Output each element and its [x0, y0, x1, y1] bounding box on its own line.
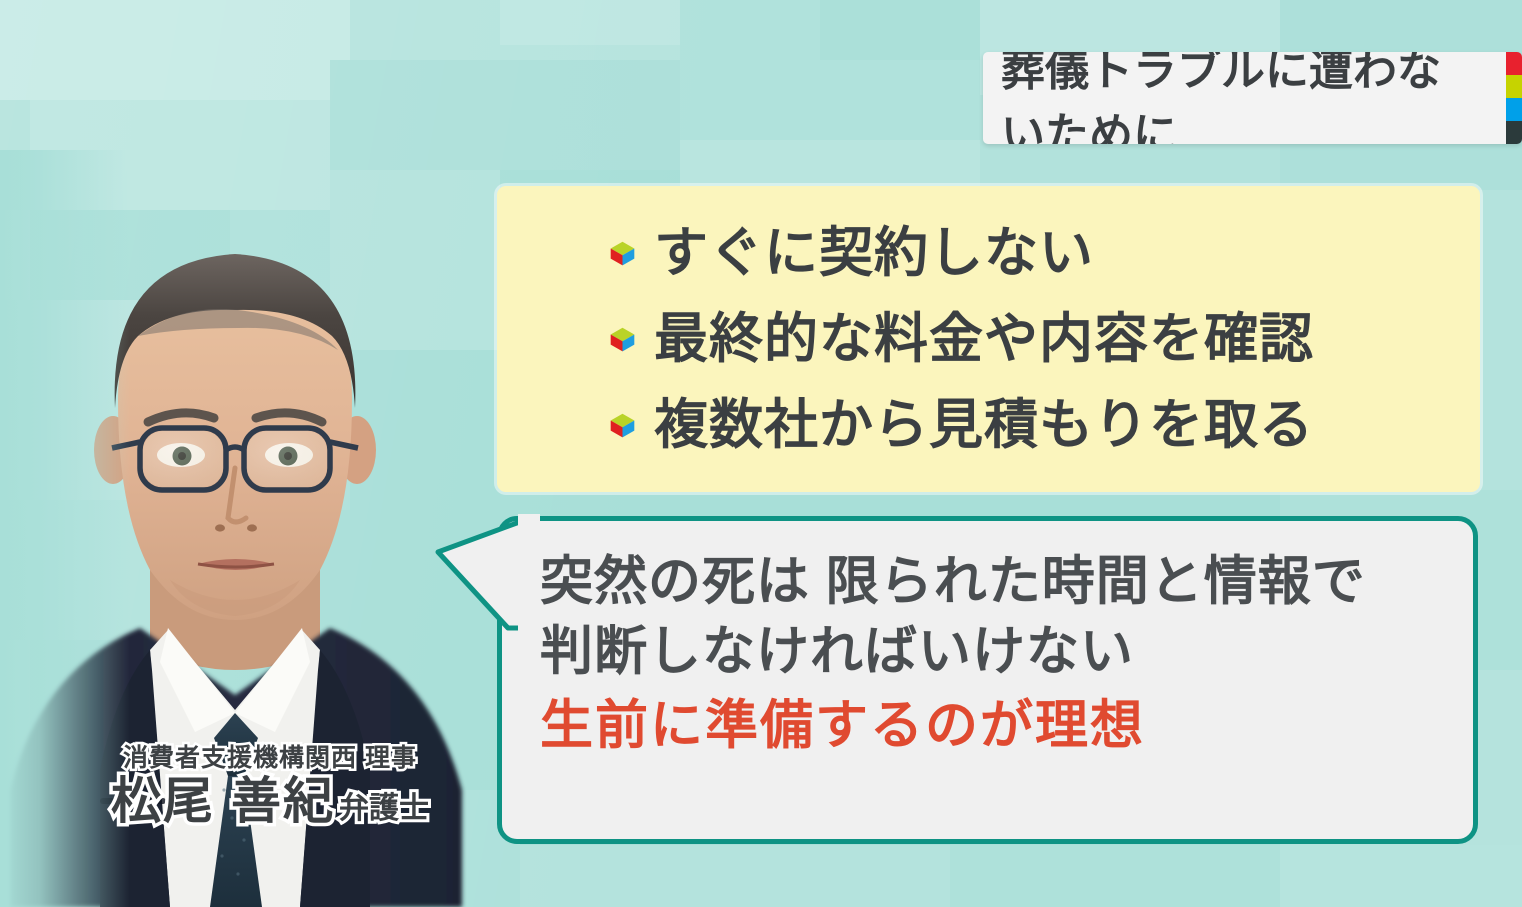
background-tile: [820, 0, 980, 60]
cube-icon: [609, 326, 636, 353]
stripe-segment-blue: [1506, 98, 1522, 121]
stripe-segment-yellow: [1506, 75, 1522, 98]
tip-text: すぐに契約しない: [654, 226, 1094, 280]
tip-item: 最終的な料金や内容を確認: [609, 296, 1480, 382]
tip-text: 最終的な料金や内容を確認: [654, 312, 1314, 366]
speaker-name-row: 松尾 善紀 弁護士: [60, 775, 480, 828]
quote-line: 判断しなければいけない: [540, 617, 1473, 687]
brand-color-stripe: [1506, 52, 1522, 144]
broadcast-graphic-stage: 消費者支援機構関西 理事 松尾 善紀 弁護士 葬儀トラブルに遭わないために す: [0, 0, 1522, 907]
speaker-role: 弁護士: [339, 793, 429, 828]
topic-banner-title: 葬儀トラブルに遭わないために: [983, 52, 1506, 144]
quote-line: 突然の死は 限られた時間と情報で: [540, 547, 1473, 617]
background-tile: [520, 845, 950, 907]
background-tile: [950, 845, 1280, 907]
topic-banner: 葬儀トラブルに遭わないために: [983, 52, 1522, 144]
background-tile: [0, 0, 350, 100]
tip-item: 複数社から見積もりを取る: [609, 382, 1480, 468]
background-tile: [500, 0, 680, 45]
cube-icon: [609, 240, 636, 267]
cube-icon: [609, 412, 636, 439]
tip-text: 複数社から見積もりを取る: [654, 398, 1314, 452]
background-tile: [1280, 845, 1522, 907]
stripe-segment-red: [1506, 52, 1522, 75]
speech-bubble: 突然の死は 限られた時間と情報で 判断しなければいけない 生前に準備するのが理想: [497, 516, 1478, 844]
quote-line-emphasis: 生前に準備するのが理想: [540, 691, 1473, 761]
stripe-segment-dark: [1506, 121, 1522, 144]
tip-item: すぐに契約しない: [609, 210, 1480, 296]
speaker-name: 松尾 善紀: [111, 775, 335, 828]
lower-third-nameplate: 消費者支援機構関西 理事 松尾 善紀 弁護士: [60, 745, 480, 827]
speech-bubble-tail: [430, 500, 540, 640]
tips-panel: すぐに契約しない 最終的な料金や内容を確認 複数社から見積もりを取る: [497, 186, 1480, 492]
speaker-affiliation: 消費者支援機構関西 理事: [60, 745, 480, 773]
